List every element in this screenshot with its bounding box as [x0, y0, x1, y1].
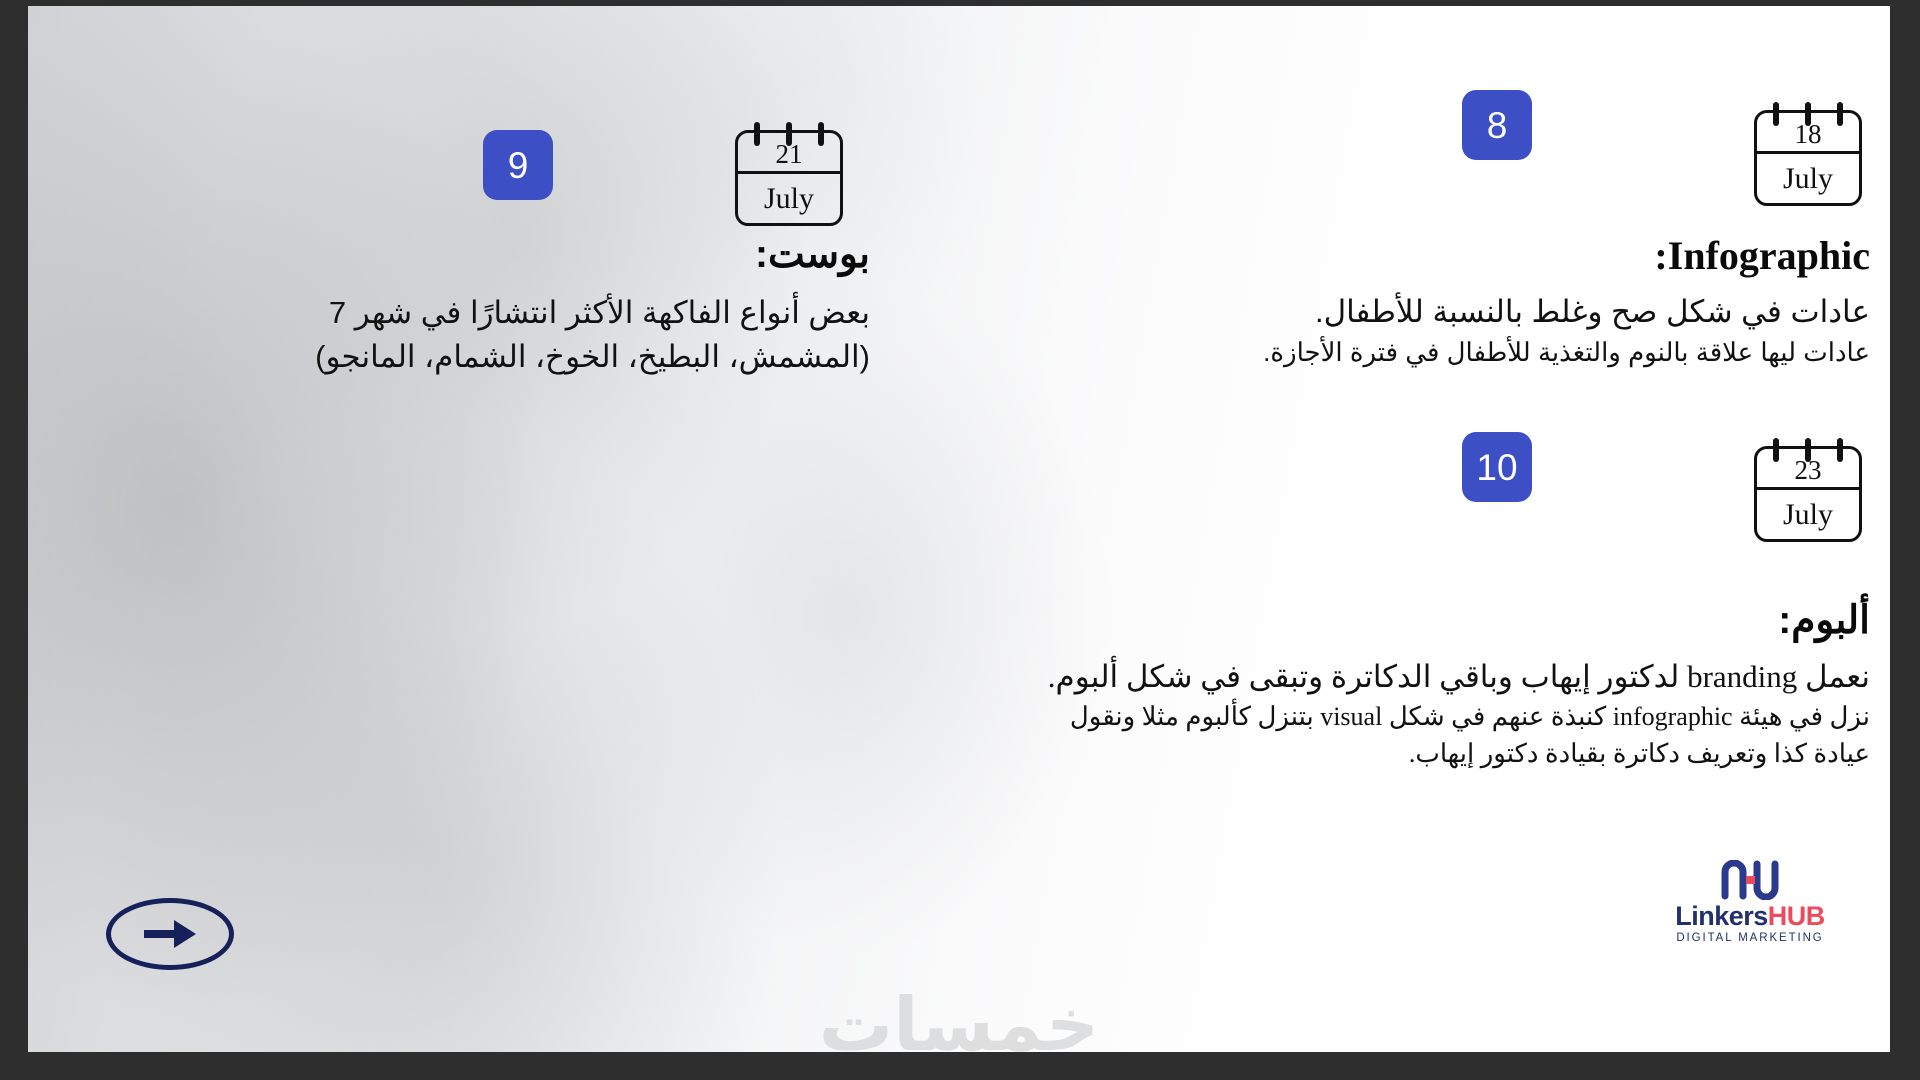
next-slide-button[interactable]: [106, 898, 234, 970]
badge-infographic-8: 8: [1462, 90, 1532, 160]
arrow-right-icon: [142, 917, 198, 951]
logo-tagline: DIGITAL MARKETING: [1662, 933, 1838, 945]
post-text-block: بوست: بعض أنواع الفاكهة الأكثر انتشارًا …: [210, 234, 870, 379]
post-line-2: (المشمش، البطيخ، الخوخ، الشمام، المانجو): [210, 335, 870, 379]
album-text-block: ألبوم: نعمل branding لدكتور إيهاب وباقي …: [790, 600, 1870, 773]
infographic-line-2: عادات ليها علاقة بالنوم والتغذية للأطفال…: [1030, 334, 1870, 371]
infographic-text-block: Infographic: عادات في شكل صح وغلط بالنسب…: [1030, 234, 1870, 371]
calendar-icon-infographic: 18 July: [1754, 110, 1862, 206]
badge-album-10: 10: [1462, 432, 1532, 502]
album-heading: ألبوم:: [790, 600, 1870, 643]
logo-wordmark: LinkersHUB: [1662, 903, 1838, 930]
calendar-day-post: 21: [738, 133, 840, 171]
linkershub-logo-mark: [1715, 860, 1785, 900]
infographic-line-1: عادات في شكل صح وغلط بالنسبة للأطفال.: [1030, 290, 1870, 334]
outer-frame: 21 July 9 بوست: بعض أنواع الفاكهة الأكثر…: [0, 0, 1920, 1080]
post-line-1: بعض أنواع الفاكهة الأكثر انتشارًا في شهر…: [210, 291, 870, 335]
post-heading: بوست:: [210, 234, 870, 277]
logo-word-second: HUB: [1768, 901, 1825, 931]
calendar-icon-post: 21 July: [735, 130, 843, 226]
linkershub-logo: LinkersHUB DIGITAL MARKETING: [1662, 860, 1838, 945]
album-line-2: نزل في هيئة infographic كنبذة عنهم في شك…: [790, 699, 1870, 736]
calendar-month-album: July: [1757, 490, 1859, 539]
album-line-1: نعمل branding لدكتور إيهاب وباقي الدكاتر…: [790, 655, 1870, 699]
calendar-icon-album: 23 July: [1754, 446, 1862, 542]
infographic-heading: Infographic:: [1030, 234, 1870, 278]
album-line-3: عيادة كذا وتعريف دكاترة بقيادة دكتور إيه…: [790, 736, 1870, 773]
calendar-month-infographic: July: [1757, 154, 1859, 203]
logo-word-first: Linkers: [1675, 901, 1768, 931]
slide-canvas: 21 July 9 بوست: بعض أنواع الفاكهة الأكثر…: [28, 6, 1890, 1052]
calendar-month-post: July: [738, 174, 840, 223]
infographic-header-row: 18 July 8: [1462, 110, 1862, 206]
calendar-day-infographic: 18: [1757, 113, 1859, 151]
calendar-day-album: 23: [1757, 449, 1859, 487]
khamsat-watermark: خمسات: [819, 982, 1099, 1052]
badge-post-9: 9: [483, 130, 553, 200]
album-header-row: 23 July 10: [1462, 446, 1862, 542]
post-header-row: 21 July 9: [483, 130, 843, 226]
